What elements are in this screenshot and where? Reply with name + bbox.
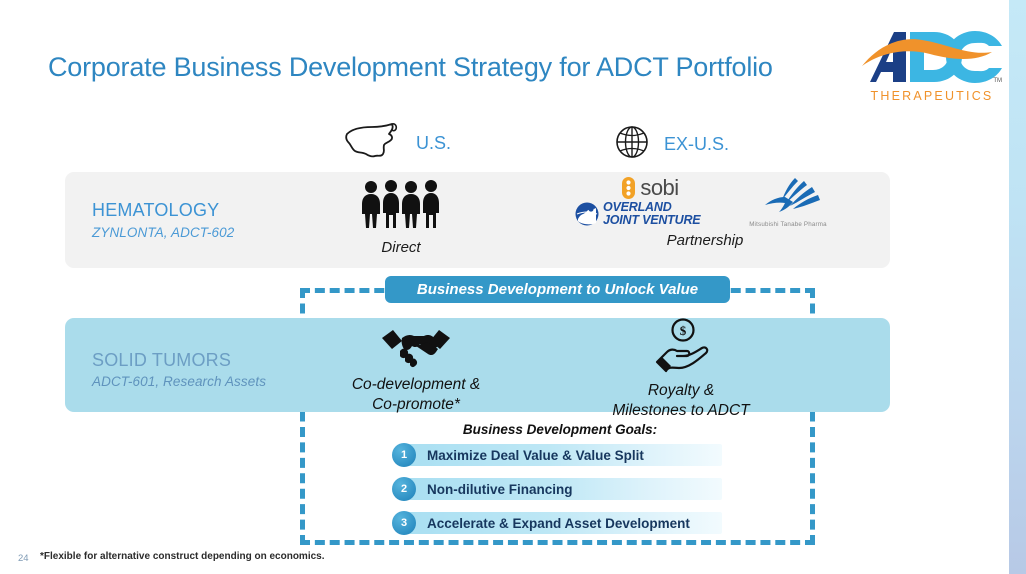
business-development-banner: Business Development to Unlock Value (385, 276, 730, 303)
overland-logo: OVERLAND JOINT VENTURE (574, 201, 726, 227)
cell-hematology-us: Direct (336, 180, 466, 256)
sobi-overland-group: sobi OVERLAND JOINT VENTURE (574, 176, 726, 227)
people-group-icon (358, 180, 444, 230)
cell-solid-tumors-ex-us: $ Royalty & Milestones to ADCT (590, 318, 772, 421)
caption-royalty: Royalty & Milestones to ADCT (590, 381, 772, 421)
hand-with-coin-icon: $ (649, 318, 713, 376)
caption-co-development-line2: Co-promote* (372, 396, 460, 413)
goal-item[interactable]: 2 Non-dilutive Financing (392, 478, 722, 500)
page-number: 24 (18, 553, 29, 564)
row-title-solid-tumors: SOLID TUMORS (92, 350, 231, 371)
column-label-us: U.S. (416, 133, 451, 154)
footnote-text: *Flexible for alternative construct depe… (40, 551, 325, 562)
sobi-mark-icon (621, 176, 636, 200)
overland-wordmark: OVERLAND JOINT VENTURE (603, 201, 700, 227)
row-subtitle-hematology: ZYNLONTA, ADCT-602 (92, 225, 234, 240)
caption-co-development: Co-development & Co-promote* (330, 375, 502, 415)
cell-solid-tumors-us: Co-development & Co-promote* (330, 324, 502, 415)
page-title: Corporate Business Development Strategy … (48, 52, 773, 83)
overland-line1: OVERLAND (603, 200, 672, 214)
column-header-ex-us: EX-U.S. (612, 122, 729, 167)
caption-royalty-line1: Royalty & (648, 382, 714, 399)
goal-number-badge: 3 (392, 511, 416, 535)
goal-item[interactable]: 3 Accelerate & Expand Asset Development (392, 512, 722, 534)
goal-number-badge: 2 (392, 477, 416, 501)
caption-direct: Direct (336, 239, 466, 256)
mitsubishi-tanabe-logo: Mitsubishi Tanabe Pharma (740, 176, 836, 228)
caption-royalty-line2: Milestones to ADCT (612, 402, 749, 419)
goals-list: 1 Maximize Deal Value & Value Split 2 No… (392, 444, 722, 546)
globe-icon (612, 122, 652, 167)
caption-co-development-line1: Co-development & (352, 376, 480, 393)
row-subtitle-solid-tumors: ADCT-601, Research Assets (92, 374, 266, 389)
goals-title: Business Development Goals: (400, 422, 720, 437)
column-label-ex-us: EX-U.S. (664, 134, 729, 155)
column-header-us: U.S. (342, 122, 451, 165)
goal-label: Maximize Deal Value & Value Split (427, 448, 644, 463)
goal-item[interactable]: 1 Maximize Deal Value & Value Split (392, 444, 722, 466)
cell-hematology-ex-us: sobi OVERLAND JOINT VENTURE (570, 176, 840, 249)
adc-therapeutics-logo: TM THERAPEUTICS (856, 26, 1008, 108)
trademark-icon: TM (993, 78, 1002, 84)
mitsubishi-tanabe-wing-icon (755, 176, 821, 216)
slide-canvas: Corporate Business Development Strategy … (0, 0, 1026, 574)
handshake-icon (380, 324, 452, 370)
caption-partnership: Partnership (570, 232, 840, 249)
logo-wordmark: THERAPEUTICS (856, 89, 1008, 103)
goal-number-badge: 1 (392, 443, 416, 467)
goal-label: Non-dilutive Financing (427, 482, 573, 497)
mitsubishi-tanabe-wordmark: Mitsubishi Tanabe Pharma (740, 221, 836, 228)
overland-globe-icon (574, 201, 600, 227)
us-map-icon (342, 122, 404, 165)
sobi-wordmark: sobi (640, 177, 678, 199)
svg-text:$: $ (680, 323, 687, 338)
overland-line2: JOINT VENTURE (603, 213, 700, 227)
goal-label: Accelerate & Expand Asset Development (427, 516, 690, 531)
right-edge-gradient-stripe (1009, 0, 1026, 574)
adc-logo-mark (856, 26, 1008, 88)
row-title-hematology: HEMATOLOGY (92, 200, 219, 221)
partner-logo-row: sobi OVERLAND JOINT VENTURE (570, 176, 840, 232)
sobi-logo: sobi (574, 176, 726, 200)
